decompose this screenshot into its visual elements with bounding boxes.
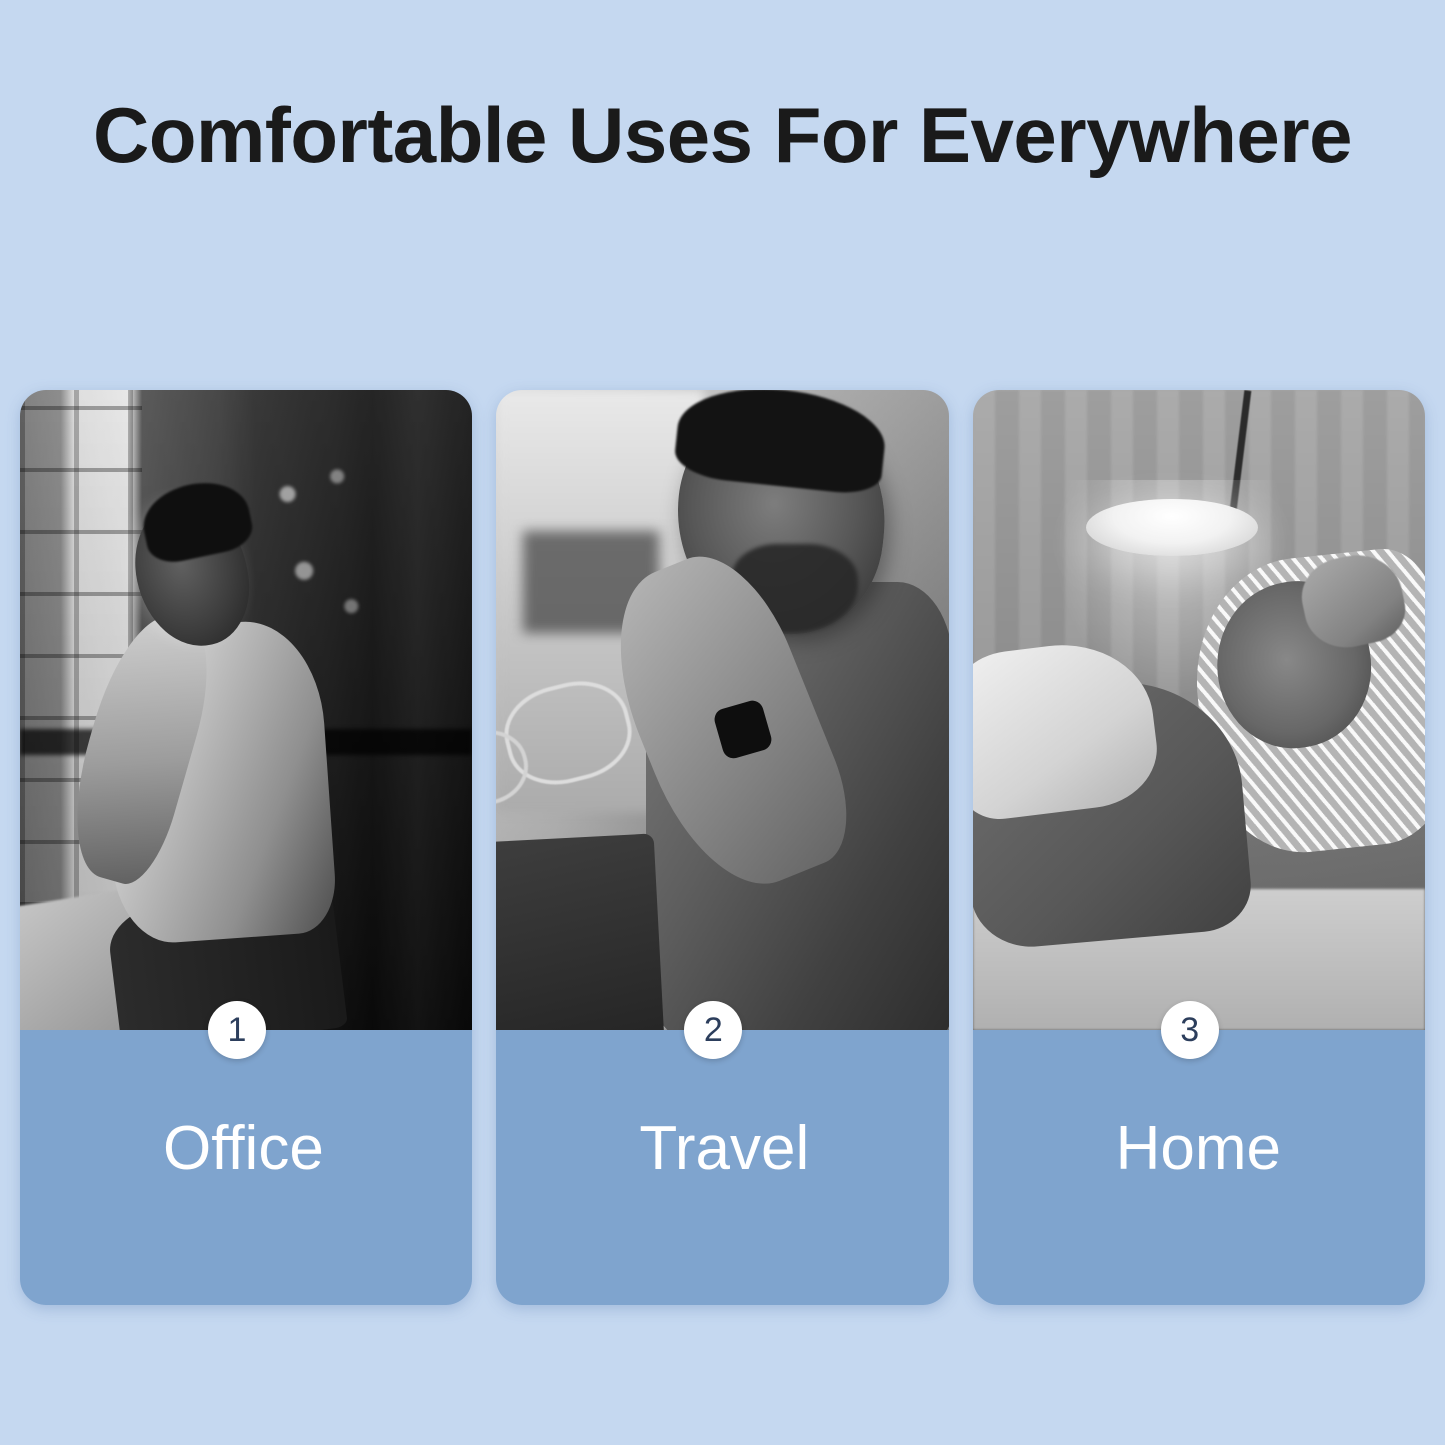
card-label-travel: Travel: [639, 1118, 809, 1180]
card-label-office: Office: [163, 1118, 324, 1180]
use-case-card-office[interactable]: Office 1: [20, 390, 472, 1305]
card-caption-home: Home: [973, 1030, 1425, 1305]
card-photo-office: [20, 390, 472, 1030]
laptop: [496, 833, 664, 1030]
card-clip: Home: [973, 390, 1425, 1305]
card-photo-travel: [496, 390, 948, 1030]
card-caption-office: Office: [20, 1030, 472, 1305]
card-photo-home: [973, 390, 1425, 1030]
home-scene-illustration: [973, 390, 1425, 1030]
card-caption-travel: Travel: [496, 1030, 948, 1305]
pendant-lamp-shade: [1086, 499, 1258, 557]
card-clip: Travel: [496, 390, 948, 1305]
step-badge-1: 1: [208, 1001, 266, 1059]
card-label-home: Home: [1116, 1118, 1281, 1180]
seated-man-figure: [83, 467, 382, 1030]
page-title: Comfortable Uses For Everywhere: [0, 96, 1445, 174]
card-clip: Office: [20, 390, 472, 1305]
use-case-card-row: Office 1: [20, 390, 1425, 1305]
use-case-card-travel[interactable]: Travel 2: [496, 390, 948, 1305]
step-badge-2: 2: [684, 1001, 742, 1059]
travel-scene-illustration: [496, 390, 948, 1030]
office-scene-illustration: [20, 390, 472, 1030]
step-badge-3: 3: [1161, 1001, 1219, 1059]
use-case-card-home[interactable]: Home 3: [973, 390, 1425, 1305]
